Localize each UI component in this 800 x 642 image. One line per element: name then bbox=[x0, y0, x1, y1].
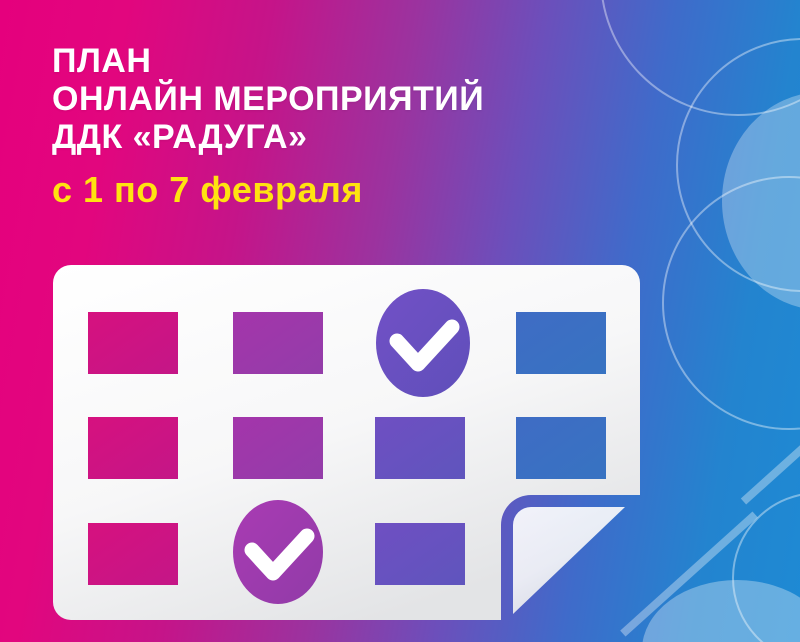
calendar-folded-corner bbox=[513, 507, 625, 614]
cell-color-col1: #cf1183 bbox=[0, 0, 1, 1]
calendar-data-sink: #cf1183 #a03aae #6b4fc0 #3d6cc0 #fdfdfd … bbox=[0, 0, 1, 1]
headline-block: ПЛАН ОНЛАЙН МЕРОПРИЯТИЙ ДДК «РАДУГА» с 1… bbox=[52, 42, 752, 210]
title-line-1: ПЛАН bbox=[52, 42, 752, 80]
calendar-cell-block bbox=[233, 312, 323, 374]
decorative-ring-right-lower-icon bbox=[662, 176, 800, 430]
calendar-illustration bbox=[53, 265, 640, 620]
date-range-subtitle: с 1 по 7 февраля bbox=[52, 170, 752, 210]
calendar-cell-check bbox=[376, 289, 470, 397]
calendar-cell-block bbox=[516, 312, 606, 374]
calendar-cell-block bbox=[375, 417, 465, 479]
title-line-2: ОНЛАЙН МЕРОПРИЯТИЙ bbox=[52, 80, 752, 118]
calendar-graphic bbox=[53, 265, 640, 620]
calendar-cell-block bbox=[516, 417, 606, 479]
decorative-disc-bottom-icon bbox=[642, 580, 800, 642]
calendar-cell-block bbox=[88, 523, 178, 585]
decorative-slash-lower-icon bbox=[620, 511, 758, 636]
calendar-cell-block bbox=[88, 417, 178, 479]
decorative-slash-upper-icon bbox=[741, 408, 800, 505]
calendar-cell-check bbox=[233, 500, 323, 604]
decorative-ring-bottom-icon bbox=[732, 492, 800, 642]
calendar-cell-block bbox=[88, 312, 178, 374]
title-line-3: ДДК «РАДУГА» bbox=[52, 118, 752, 156]
calendar-cell-block bbox=[375, 523, 465, 585]
poster-canvas: ПЛАН ОНЛАЙН МЕРОПРИЯТИЙ ДДК «РАДУГА» с 1… bbox=[0, 0, 800, 642]
calendar-cell-block bbox=[233, 417, 323, 479]
